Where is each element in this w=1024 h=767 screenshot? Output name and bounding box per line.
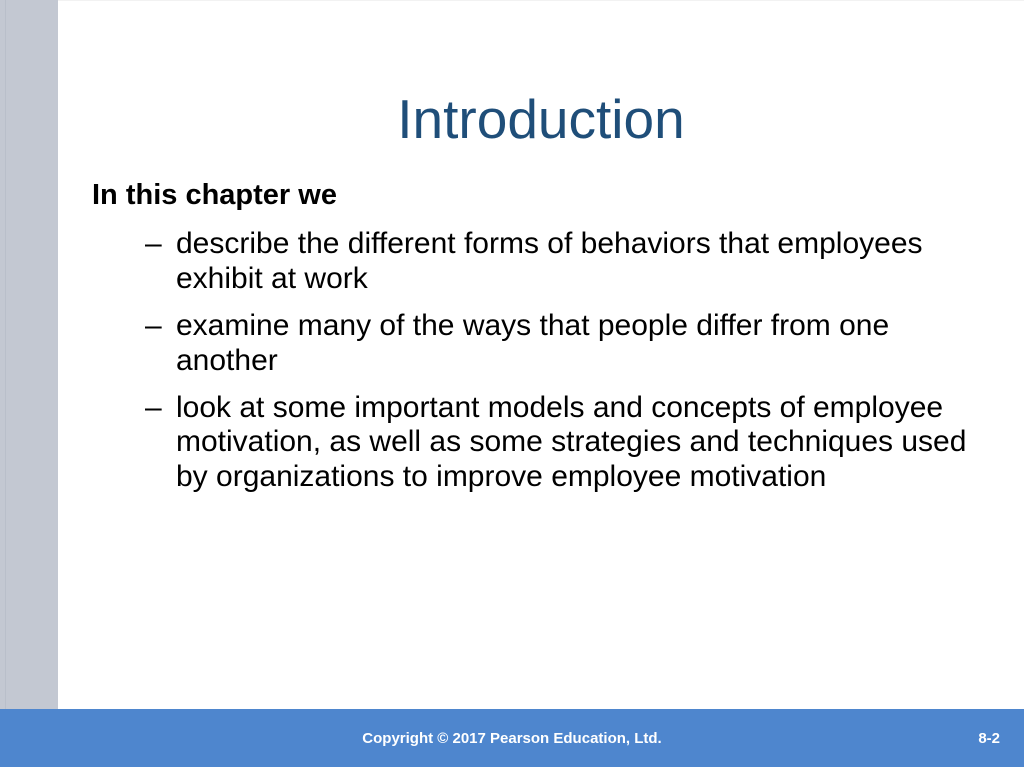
bullet-list: – describe the different forms of behavi… [92,227,992,495]
slide-footer: Copyright © 2017 Pearson Education, Ltd.… [0,709,1024,767]
dash-bullet-icon: – [145,391,176,426]
dash-bullet-icon: – [145,227,176,262]
copyright-text: Copyright © 2017 Pearson Education, Ltd. [0,709,1024,767]
page-title: Introduction [58,91,1024,149]
left-accent-bar-stripe [5,0,6,709]
left-accent-bar [0,0,58,709]
list-item: – look at some important models and conc… [92,391,992,495]
list-item-label: describe the different forms of behavior… [176,227,976,297]
list-item-label: examine many of the ways that people dif… [176,309,976,379]
list-item: – examine many of the ways that people d… [92,309,992,379]
slide-body: In this chapter we – describe the differ… [92,178,992,495]
presentation-slide: Introduction In this chapter we – descri… [0,0,1024,767]
page-number: 8-2 [978,709,1000,767]
dash-bullet-icon: – [145,309,176,344]
list-item: – describe the different forms of behavi… [92,227,992,297]
lead-in-text: In this chapter we [92,178,992,213]
list-item-label: look at some important models and concep… [176,391,976,495]
